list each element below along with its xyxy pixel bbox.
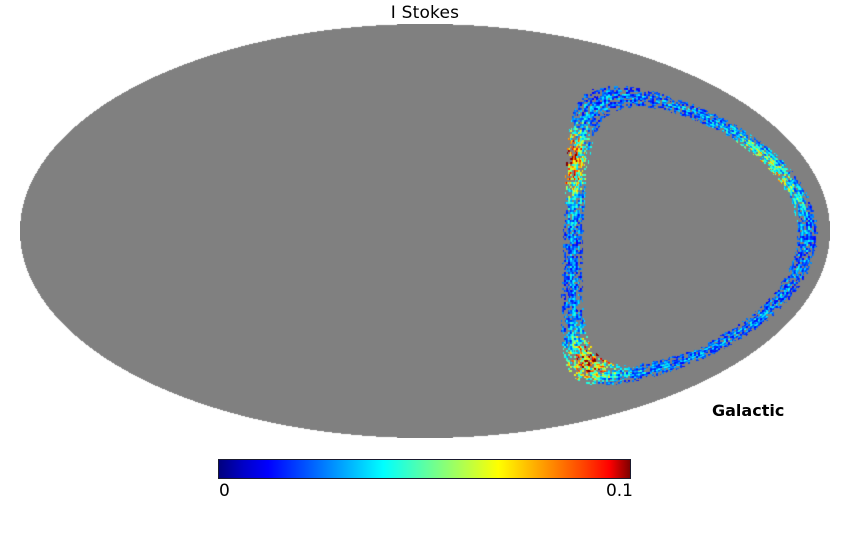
page-title: I Stokes [0, 3, 850, 23]
colorbar-gradient[interactable] [218, 459, 631, 479]
sky-map-figure: I Stokes Galactic 0 0.1 [0, 0, 850, 540]
mollweide-projection [20, 24, 830, 438]
sky-map-canvas[interactable] [20, 24, 830, 438]
colorbar: 0 0.1 [218, 459, 631, 505]
colorbar-min-tick: 0 [219, 481, 230, 501]
colorbar-max-tick: 0.1 [606, 481, 633, 501]
coordinate-system-label: Galactic [712, 401, 784, 420]
